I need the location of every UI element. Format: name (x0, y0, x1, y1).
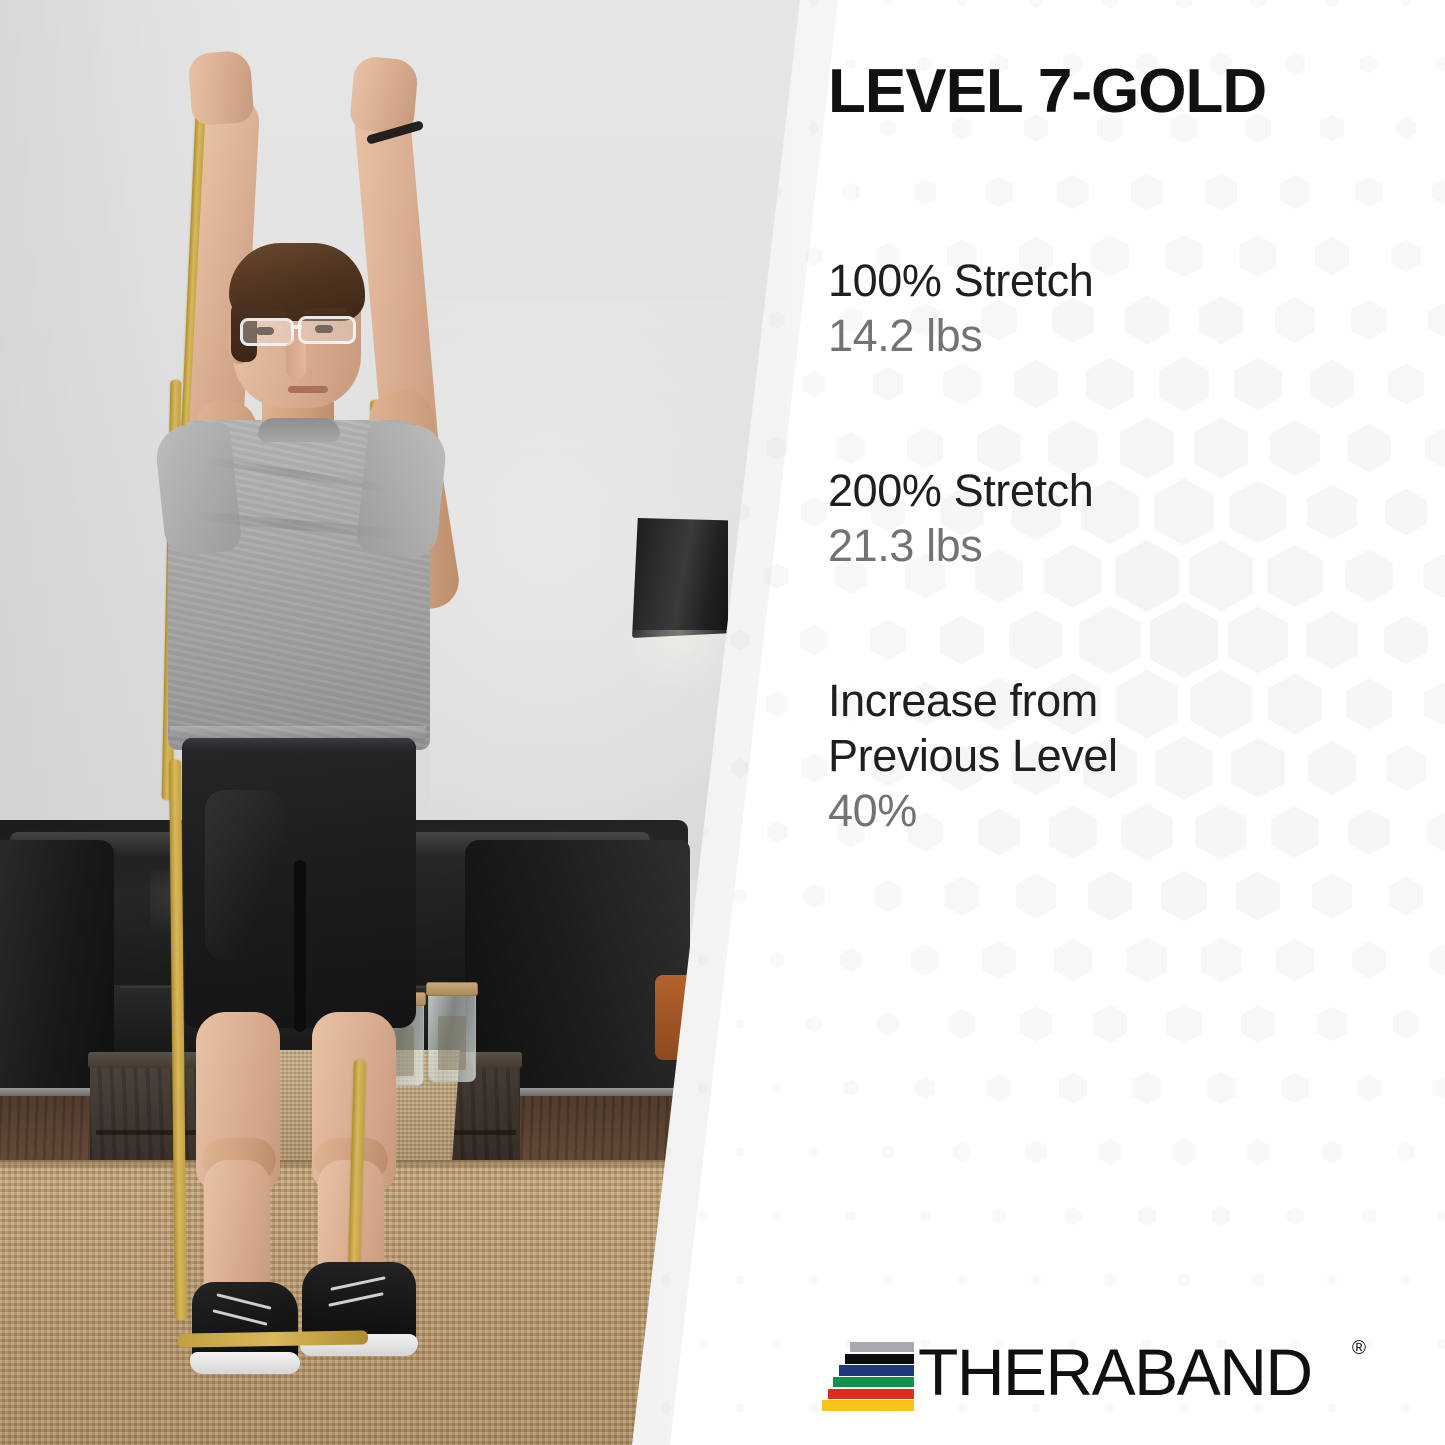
stat-block-100-stretch: 100% Stretch 14.2 lbs (828, 254, 1308, 364)
stat-label-line-1: Increase from (828, 674, 1308, 729)
hexagon-tile (770, 952, 785, 969)
hexagon-tile (735, 1403, 745, 1414)
safety-glasses-lens-left (240, 318, 294, 346)
safety-glasses-bridge (292, 325, 302, 329)
hexagon-tile (1428, 303, 1445, 337)
theraband-stripe-2 (839, 1365, 914, 1375)
stat-label-line-2: Previous Level (828, 729, 1308, 784)
nose (286, 340, 306, 378)
theraband-stripes-icon (822, 1342, 914, 1412)
theraband-stripe-0 (850, 1342, 914, 1352)
page-title: LEVEL 7-GOLD (828, 56, 1266, 127)
stat-value: 40% (828, 784, 1308, 839)
hexagon-tile (801, 754, 827, 783)
hexagon-tile (1436, 57, 1445, 72)
hexagon-tile (801, 497, 828, 527)
hexagon-tile (772, 1339, 782, 1350)
infographic-root: LEVEL 7-GOLD 100% Stretch 14.2 lbs 200% … (0, 0, 1445, 1445)
floor-lamp-shade-icon (632, 518, 728, 638)
glass-jar-right-lid (426, 982, 478, 996)
shorts-waistband (184, 738, 414, 752)
theraband-stripe-5 (822, 1400, 914, 1410)
registered-trademark-symbol: ® (1352, 1338, 1366, 1360)
safety-glasses-lens-right (298, 316, 356, 344)
hexagon-tile (767, 821, 787, 843)
stat-label: 100% Stretch (828, 254, 1308, 309)
theraband-logo: THERABAND ® (800, 1330, 1400, 1426)
hexagon-tile (806, 1016, 821, 1033)
hexagon-tile (802, 371, 825, 397)
glass-jar-right-contents (438, 1016, 466, 1070)
hexagon-tile (733, 888, 747, 903)
hexagon-tile (698, 1211, 708, 1222)
hexagon-tile (1438, 1210, 1445, 1222)
hexagon-tile (735, 1019, 745, 1030)
hexagon-tile (1438, 1339, 1445, 1350)
hexagon-tile (809, 1275, 819, 1286)
stat-value: 21.3 lbs (828, 519, 1308, 574)
stat-block-increase-from-previous-level: Increase from Previous Level 40% (828, 674, 1308, 839)
shorts-inseam (294, 860, 306, 1032)
hexagon-tile (1433, 1077, 1445, 1099)
hexagon-tile (772, 1211, 782, 1222)
theraband-stripe-1 (845, 1354, 914, 1364)
shorts-highlight (205, 790, 285, 960)
theraband-wordmark: THERABAND (918, 1334, 1312, 1410)
hexagon-tile (1429, 945, 1445, 976)
left-fist (188, 50, 255, 126)
mouth (288, 386, 328, 393)
tshirt-sleeve-right (355, 420, 448, 560)
hexagon-tile (1426, 813, 1445, 851)
hexagon-tile (800, 625, 828, 656)
theraband-stripe-3 (833, 1377, 914, 1387)
stat-value: 14.2 lbs (828, 309, 1308, 364)
info-panel-content: LEVEL 7-GOLD 100% Stretch 14.2 lbs 200% … (828, 0, 1428, 1445)
hexagon-tile (809, 1147, 819, 1158)
hexagon-tile (803, 884, 824, 908)
stat-label: 200% Stretch (828, 464, 1308, 519)
theraband-stripe-4 (828, 1389, 914, 1399)
hexagon-tile (1432, 180, 1445, 205)
hexagon-tile (735, 1275, 745, 1286)
hexagon-tile (766, 691, 789, 716)
hexagon-tile (698, 1339, 708, 1350)
tshirt-collar (258, 418, 340, 442)
stat-block-200-stretch: 200% Stretch 21.3 lbs (828, 464, 1308, 574)
tshirt-sleeve-left (153, 420, 242, 557)
hexagon-tile (772, 1083, 782, 1094)
shin-left (204, 1160, 270, 1300)
sneaker-left-sole (190, 1352, 300, 1374)
hexagon-tile (735, 1147, 745, 1158)
